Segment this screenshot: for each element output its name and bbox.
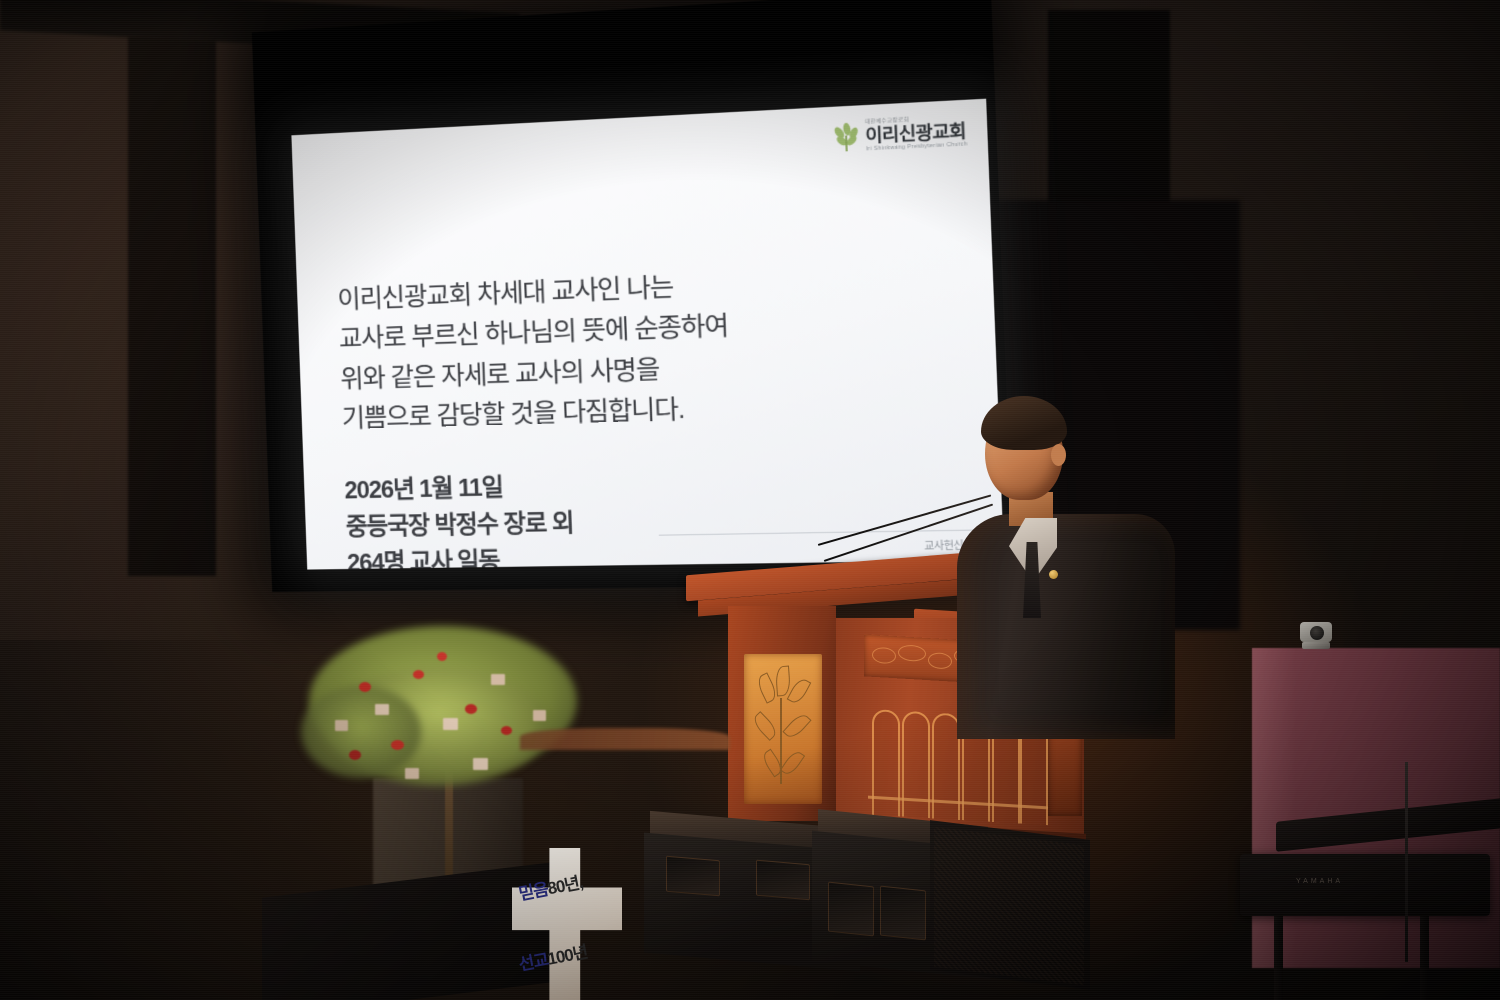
tree-foliage <box>301 686 421 778</box>
signoff-line: 중등국장 박정수 장로 외 <box>345 501 895 543</box>
prayer-card <box>335 720 348 731</box>
pulpit-leaf-glyph <box>782 711 811 741</box>
piano-leg <box>1420 916 1429 1000</box>
camera-mount <box>1302 642 1330 649</box>
stage-scene: 대한예수교장로회 이리신광교회 Iri Shinkwang Presbyteri… <box>0 0 1500 1000</box>
prayer-card <box>473 758 488 770</box>
pulpit-leaf-glyph <box>750 711 780 741</box>
ptz-camera <box>1298 620 1334 650</box>
prayer-card <box>375 704 389 715</box>
signoff-line: 2026년 1월 11일 <box>344 463 894 506</box>
speaker-person <box>965 392 1175 732</box>
slide-surface: 대한예수교장로회 이리신광교회 Iri Shinkwang Presbyteri… <box>291 99 1004 570</box>
monitor-handle-cutout <box>828 882 874 937</box>
piano-body <box>1240 854 1490 916</box>
cross-sign-line2-blue: 선교 <box>517 950 549 974</box>
tree-fruit <box>465 704 477 714</box>
tree-fruit <box>391 740 404 750</box>
pulpit-leaf-panel <box>744 654 822 804</box>
tree-fruit <box>359 682 371 692</box>
grand-piano: YAMAHA <box>1240 810 1500 1000</box>
tree-fruit <box>413 670 424 679</box>
prayer-card <box>443 718 458 730</box>
prayer-card <box>405 768 419 779</box>
pulpit-leaf-glyph <box>780 749 805 778</box>
signoff-text-block: 2026년 1월 11일 중등국장 박정수 장로 외 264명 교사 일동 <box>344 463 897 569</box>
camera-lens-icon <box>1310 626 1324 640</box>
piano-brand-label: YAMAHA <box>1296 878 1343 885</box>
cross-sign-line1-blue: 믿음 <box>517 880 549 904</box>
acoustic-panel-left <box>128 36 216 576</box>
stage-rail <box>520 728 730 750</box>
church-logo: 대한예수교장로회 이리신광교회 Iri Shinkwang Presbyteri… <box>831 115 968 155</box>
piano-leg <box>1274 916 1283 1000</box>
prayer-card <box>491 674 505 685</box>
pulpit-leaf-glyph <box>787 676 812 706</box>
prayer-card <box>533 710 546 721</box>
monitor-handle-cutout <box>756 860 810 901</box>
cross-sign-line2-black: 100년 <box>546 943 589 969</box>
cross-shaped-sign: 믿음80년, 선교100년 <box>512 848 622 1000</box>
leaf-tree-icon <box>831 121 861 154</box>
mic-stand <box>1405 762 1408 962</box>
projection-screen: 대한예수교장로회 이리신광교회 Iri Shinkwang Presbyteri… <box>252 0 1014 592</box>
pledge-line: 기쁨으로 감당할 것을 다짐합니다. <box>341 387 891 436</box>
lapel-pin <box>1049 570 1058 579</box>
monitor-handle-cutout <box>880 886 926 941</box>
tree-fruit <box>501 726 512 735</box>
monitor-handle-cutout <box>666 856 720 897</box>
pledge-text-block: 이리신광교회 차세대 교사인 나는 교사로 부르신 하나님의 뜻에 순종하여 위… <box>337 263 892 443</box>
stage-monitor-grill-texture <box>934 827 1084 985</box>
speaker-ear <box>1051 444 1066 466</box>
pulpit-leaf-glyph <box>775 666 791 697</box>
speaker-suit <box>957 514 1175 739</box>
tree-fruit <box>349 750 361 760</box>
tree-fruit <box>437 652 447 661</box>
speaker-hair <box>981 396 1067 450</box>
